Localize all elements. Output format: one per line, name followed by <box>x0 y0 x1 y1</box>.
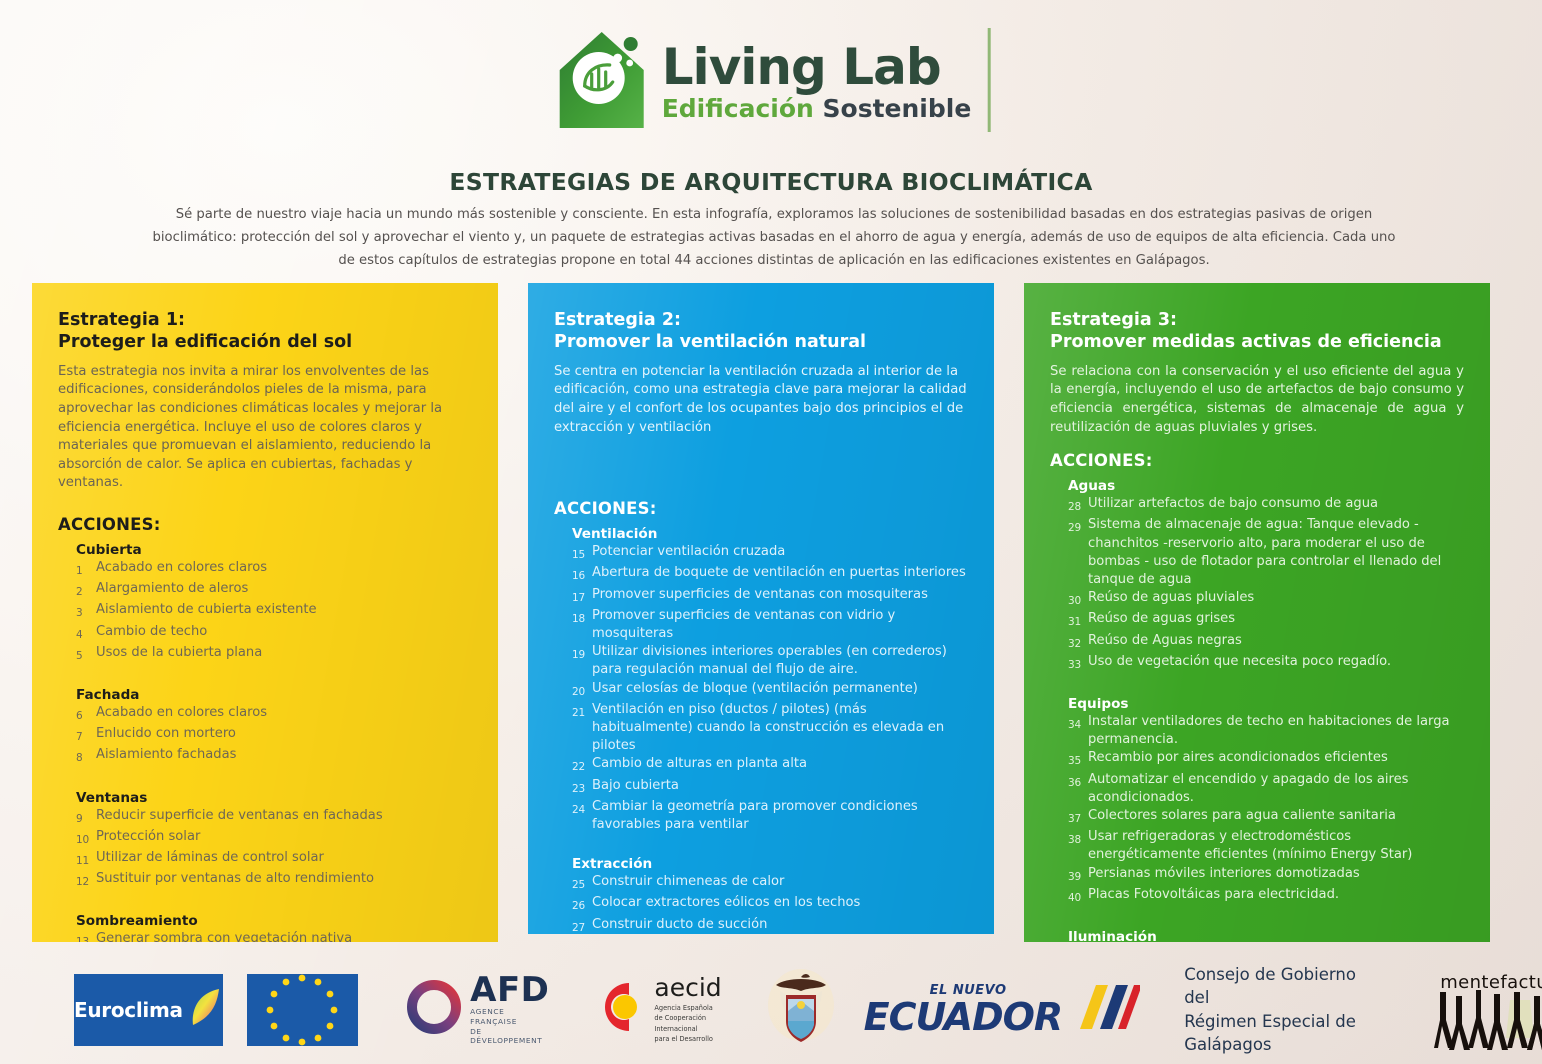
list-item: 20Usar celosías de bloque (ventilación p… <box>572 680 968 701</box>
item-number: 24 <box>572 798 592 834</box>
list-item: 17Promover superficies de ventanas con m… <box>572 586 968 607</box>
euroclima-label: Euroclima <box>74 998 183 1022</box>
consejo-line-2: Régimen Especial de Galápagos <box>1184 1010 1374 1057</box>
item-text: Usos de la cubierta plana <box>96 644 472 665</box>
list-item: 16Abertura de boquete de ventilación en … <box>572 564 968 585</box>
item-number: 13 <box>76 930 96 942</box>
item-text: Abertura de boquete de ventilación en pu… <box>592 564 968 585</box>
euroclima-leaf-icon <box>183 987 223 1032</box>
consejo-gobierno-galapagos-label: Consejo de Gobierno del Régimen Especial… <box>1184 963 1374 1057</box>
list-item: 27Construir ducto de succión <box>572 916 968 934</box>
item-number: 8 <box>76 746 96 767</box>
item-text: Usar celosías de bloque (ventilación per… <box>592 680 968 701</box>
item-text: Instalar ventiladores de techo en habita… <box>1088 713 1464 749</box>
item-text: Reúso de aguas pluviales <box>1088 589 1464 610</box>
item-text: Reúso de aguas grises <box>1088 610 1464 631</box>
item-number: 30 <box>1068 589 1088 610</box>
strategy-1-name: Proteger la edificación del sol <box>58 331 472 353</box>
strategy-panel-2: Estrategia 2: Promover la ventilación na… <box>528 283 994 934</box>
group-iluminacion: Iluminación 41Promover iluminación natur… <box>1050 929 1464 942</box>
item-text: Protección solar <box>96 828 472 849</box>
list-item: 19Utilizar divisiones interiores operabl… <box>572 643 968 679</box>
item-number: 26 <box>572 894 592 915</box>
item-number: 28 <box>1068 495 1088 516</box>
list-item: 26Colocar extractores eólicos en los tec… <box>572 894 968 915</box>
item-number: 3 <box>76 601 96 622</box>
item-number: 11 <box>76 849 96 870</box>
logo-subtitle-green: Edificación <box>662 94 814 123</box>
list-item: 15Potenciar ventilación cruzada <box>572 543 968 564</box>
strategy-3-actions-label: ACCIONES: <box>1050 451 1464 470</box>
list-item: 21Ventilación en piso (ductos / pilotes)… <box>572 701 968 756</box>
strategy-1-description: Esta estrategia nos invita a mirar los e… <box>58 363 472 493</box>
item-number: 6 <box>76 704 96 725</box>
ecuador-coat-of-arms-icon <box>764 965 864 1054</box>
group-title: Cubierta <box>76 542 472 558</box>
action-list: 13Generar sombra con vegetación nativa 1… <box>76 930 472 942</box>
list-item: 25Construir chimeneas de calor <box>572 873 968 894</box>
item-number: 33 <box>1068 653 1088 674</box>
item-number: 1 <box>76 559 96 580</box>
consejo-line-1: Consejo de Gobierno del <box>1184 963 1374 1010</box>
item-number: 10 <box>76 828 96 849</box>
afd-ring-icon <box>406 979 462 1040</box>
list-item: 40Placas Fotovoltáicas para electricidad… <box>1068 886 1464 907</box>
item-text: Automatizar el encendido y apagado de lo… <box>1088 771 1464 807</box>
list-item: 5Usos de la cubierta plana <box>76 644 472 665</box>
list-item: 38Usar refrigeradoras y electrodoméstico… <box>1068 828 1464 864</box>
item-text: Reúso de Aguas negras <box>1088 632 1464 653</box>
european-union-flag-icon <box>247 974 358 1046</box>
list-item: 6Acabado en colores claros <box>76 704 472 725</box>
list-item: 9Reducir superficie de ventanas en facha… <box>76 807 472 828</box>
logo-divider <box>987 28 990 132</box>
strategy-1-actions-label: ACCIONES: <box>58 515 472 534</box>
action-list: 9Reducir superficie de ventanas en facha… <box>76 807 472 892</box>
item-text: Promover superficies de ventanas con mos… <box>592 586 968 607</box>
item-number: 35 <box>1068 749 1088 770</box>
item-number: 19 <box>572 643 592 679</box>
strategy-3-name: Promover medidas activas de eficiencia <box>1050 331 1464 353</box>
logo-wordmark: Living Lab Edificación Sostenible <box>662 38 972 123</box>
strategy-1-label: Estrategia 1: <box>58 309 472 331</box>
list-item: 36Automatizar el encendido y apagado de … <box>1068 771 1464 807</box>
item-number: 20 <box>572 680 592 701</box>
strategy-panel-3: Estrategia 3: Promover medidas activas d… <box>1024 283 1490 942</box>
group-aguas: Aguas 28Utilizar artefactos de bajo cons… <box>1050 478 1464 674</box>
item-number: 15 <box>572 543 592 564</box>
item-text: Aislamiento fachadas <box>96 746 472 767</box>
list-item: 8Aislamiento fachadas <box>76 746 472 767</box>
group-title: Fachada <box>76 687 472 703</box>
aecid-logo: aecid Agencia Española de Cooperación In… <box>589 975 721 1044</box>
list-item: 29Sistema de almacenaje de agua: Tanque … <box>1068 516 1464 589</box>
item-text: Generar sombra con vegetación nativa <box>96 930 472 942</box>
item-text: Recambio por aires acondicionados eficie… <box>1088 749 1464 770</box>
aecid-subtitle: Agencia Española de Cooperación Internac… <box>654 1003 721 1044</box>
group-cubierta: Cubierta 1Acabado en colores claros 2Ala… <box>58 542 472 665</box>
infographic-poster: Living Lab Edificación Sostenible ESTRAT… <box>0 0 1542 1064</box>
list-item: 2Alargamiento de aleros <box>76 580 472 601</box>
group-title: Ventilación <box>572 526 968 542</box>
item-number: 18 <box>572 607 592 643</box>
group-title: Extracción <box>572 856 968 872</box>
action-list: 34Instalar ventiladores de techo en habi… <box>1068 713 1464 907</box>
item-text: Uso de vegetación que necesita poco rega… <box>1088 653 1464 674</box>
list-item: 33Uso de vegetación que necesita poco re… <box>1068 653 1464 674</box>
list-item: 35Recambio por aires acondicionados efic… <box>1068 749 1464 770</box>
aecid-name: aecid <box>654 975 721 1000</box>
list-item: 12Sustituir por ventanas de alto rendimi… <box>76 870 472 891</box>
item-number: 25 <box>572 873 592 894</box>
list-item: 39Persianas móviles interiores domotizad… <box>1068 865 1464 886</box>
action-list: 6Acabado en colores claros 7Enlucido con… <box>76 704 472 768</box>
action-list: 15Potenciar ventilación cruzada 16Abertu… <box>572 543 968 834</box>
group-ventanas: Ventanas 9Reducir superficie de ventanas… <box>58 790 472 892</box>
aecid-c-icon <box>589 977 645 1042</box>
aecid-wordmark: aecid Agencia Española de Cooperación In… <box>654 975 721 1044</box>
list-item: 24Cambiar la geometría para promover con… <box>572 798 968 834</box>
list-item: 22Cambio de alturas en planta alta <box>572 755 968 776</box>
list-item: 18Promover superficies de ventanas con v… <box>572 607 968 643</box>
intro-paragraph: Sé parte de nuestro viaje hacia un mundo… <box>150 203 1398 272</box>
item-number: 38 <box>1068 828 1088 864</box>
item-number: 2 <box>76 580 96 601</box>
list-item: 7Enlucido con mortero <box>76 725 472 746</box>
item-number: 4 <box>76 623 96 644</box>
group-ventilacion: Ventilación 15Potenciar ventilación cruz… <box>554 526 968 834</box>
item-text: Alargamiento de aleros <box>96 580 472 601</box>
list-item: 37Colectores solares para agua caliente … <box>1068 807 1464 828</box>
list-item: 34Instalar ventiladores de techo en habi… <box>1068 713 1464 749</box>
aecid-subtitle-line2: de Cooperación <box>654 1013 721 1023</box>
item-text: Acabado en colores claros <box>96 704 472 725</box>
item-number: 27 <box>572 916 592 934</box>
group-title: Aguas <box>1068 478 1464 494</box>
item-text: Potenciar ventilación cruzada <box>592 543 968 564</box>
item-text: Colectores solares para agua caliente sa… <box>1088 807 1464 828</box>
item-number: 40 <box>1068 886 1088 907</box>
item-text: Placas Fotovoltáicas para electricidad. <box>1088 886 1464 907</box>
strategy-2-name: Promover la ventilación natural <box>554 331 968 353</box>
list-item: 23Bajo cubierta <box>572 777 968 798</box>
logo-subtitle-dark: Sostenible <box>823 94 972 123</box>
item-text: Promover superficies de ventanas con vid… <box>592 607 968 643</box>
item-number: 22 <box>572 755 592 776</box>
action-list: 25Construir chimeneas de calor 26Colocar… <box>572 873 968 934</box>
item-number: 23 <box>572 777 592 798</box>
item-text: Utilizar divisiones interiores operables… <box>592 643 968 679</box>
ecuador-wordmark: EL NUEVO ECUADOR <box>864 983 1063 1036</box>
item-text: Reducir superficie de ventanas en fachad… <box>96 807 472 828</box>
afd-subtitle-line2: DE DÉVELOPPEMENT <box>470 1027 549 1047</box>
item-number: 36 <box>1068 771 1088 807</box>
list-item: 31Reúso de aguas grises <box>1068 610 1464 631</box>
house-leaf-icon <box>552 24 656 136</box>
item-number: 32 <box>1068 632 1088 653</box>
action-list: 1Acabado en colores claros 2Alargamiento… <box>76 559 472 665</box>
item-number: 21 <box>572 701 592 756</box>
item-text: Construir chimeneas de calor <box>592 873 968 894</box>
strategy-3-description: Se relaciona con la conservación y el us… <box>1050 363 1464 437</box>
living-lab-logo: Living Lab Edificación Sostenible <box>552 24 991 136</box>
item-text: Cambiar la geometría para promover condi… <box>592 798 968 834</box>
aecid-subtitle-line4: para el Desarrollo <box>654 1034 721 1044</box>
group-title: Equipos <box>1068 696 1464 712</box>
item-text: Aislamiento de cubierta existente <box>96 601 472 622</box>
item-number: 7 <box>76 725 96 746</box>
item-text: Usar refrigeradoras y electrodomésticos … <box>1088 828 1464 864</box>
list-item: 10Protección solar <box>76 828 472 849</box>
item-text: Construir ducto de succión <box>592 916 968 934</box>
list-item: 3Aislamiento de cubierta existente <box>76 601 472 622</box>
strategy-columns: Estrategia 1: Proteger la edificación de… <box>32 283 1513 942</box>
aecid-subtitle-line3: Internacional <box>654 1024 721 1034</box>
group-title: Iluminación <box>1068 929 1464 942</box>
strategy-2-description: Se centra en potenciar la ventilación cr… <box>554 363 968 437</box>
item-text: Acabado en colores claros <box>96 559 472 580</box>
list-item: 1Acabado en colores claros <box>76 559 472 580</box>
item-number: 34 <box>1068 713 1088 749</box>
strategy-2-actions-label: ACCIONES: <box>554 499 968 518</box>
group-title: Ventanas <box>76 790 472 806</box>
item-number: 16 <box>572 564 592 585</box>
strategy-2-label: Estrategia 2: <box>554 309 968 331</box>
group-title: Sombreamiento <box>76 913 472 929</box>
item-text: Sustituir por ventanas de alto rendimien… <box>96 870 472 891</box>
ecuador-big-label: ECUADOR <box>864 998 1063 1036</box>
afd-wordmark: AFD AGENCE FRANÇAISE DE DÉVELOPPEMENT <box>470 973 549 1047</box>
strategy-3-label: Estrategia 3: <box>1050 309 1464 331</box>
mentefactura-logo: mentefactura <box>1434 968 1542 1052</box>
item-text: Persianas móviles interiores domotizadas <box>1088 865 1464 886</box>
list-item: 30Reúso de aguas pluviales <box>1068 589 1464 610</box>
item-number: 37 <box>1068 807 1088 828</box>
group-fachada: Fachada 6Acabado en colores claros 7Enlu… <box>58 687 472 768</box>
item-number: 17 <box>572 586 592 607</box>
ecuador-tricolor-stripes-icon <box>1062 983 1140 1036</box>
item-text: Enlucido con mortero <box>96 725 472 746</box>
list-item: 28Utilizar artefactos de bajo consumo de… <box>1068 495 1464 516</box>
logo-title: Living Lab <box>662 42 972 92</box>
euroclima-logo: Euroclima <box>74 974 223 1046</box>
item-number: 12 <box>76 870 96 891</box>
list-item: 32Reúso de Aguas negras <box>1068 632 1464 653</box>
item-text: Ventilación en piso (ductos / pilotes) (… <box>592 701 968 756</box>
item-number: 31 <box>1068 610 1088 631</box>
aecid-subtitle-line1: Agencia Española <box>654 1003 721 1013</box>
page-title: ESTRATEGIAS DE ARQUITECTURA BIOCLIMÁTICA <box>0 168 1542 196</box>
item-number: 39 <box>1068 865 1088 886</box>
item-number: 5 <box>76 644 96 665</box>
group-equipos: Equipos 34Instalar ventiladores de techo… <box>1050 696 1464 907</box>
logo-subtitle: Edificación Sostenible <box>662 95 972 123</box>
group-extraccion: Extracción 25Construir chimeneas de calo… <box>554 856 968 934</box>
action-list: 28Utilizar artefactos de bajo consumo de… <box>1068 495 1464 674</box>
item-text: Colocar extractores eólicos en los techo… <box>592 894 968 915</box>
list-item: 4Cambio de techo <box>76 623 472 644</box>
list-item: 13Generar sombra con vegetación nativa <box>76 930 472 942</box>
item-text: Cambio de alturas en planta alta <box>592 755 968 776</box>
item-text: Utilizar de láminas de control solar <box>96 849 472 870</box>
afd-logo: AFD AGENCE FRANÇAISE DE DÉVELOPPEMENT <box>406 973 549 1047</box>
list-item: 11Utilizar de láminas de control solar <box>76 849 472 870</box>
item-text: Sistema de almacenaje de agua: Tanque el… <box>1088 516 1464 589</box>
afd-name: AFD <box>470 973 549 1007</box>
el-nuevo-ecuador-logo: EL NUEVO ECUADOR <box>864 983 1141 1036</box>
item-number: 9 <box>76 807 96 828</box>
group-sombreamiento: Sombreamiento 13Generar sombra con veget… <box>58 913 472 942</box>
item-number: 29 <box>1068 516 1088 589</box>
footer-logos: Euroclima <box>0 955 1542 1064</box>
strategy-panel-1: Estrategia 1: Proteger la edificación de… <box>32 283 498 942</box>
item-text: Cambio de techo <box>96 623 472 644</box>
item-text: Bajo cubierta <box>592 777 968 798</box>
item-text: Utilizar artefactos de bajo consumo de a… <box>1088 495 1464 516</box>
